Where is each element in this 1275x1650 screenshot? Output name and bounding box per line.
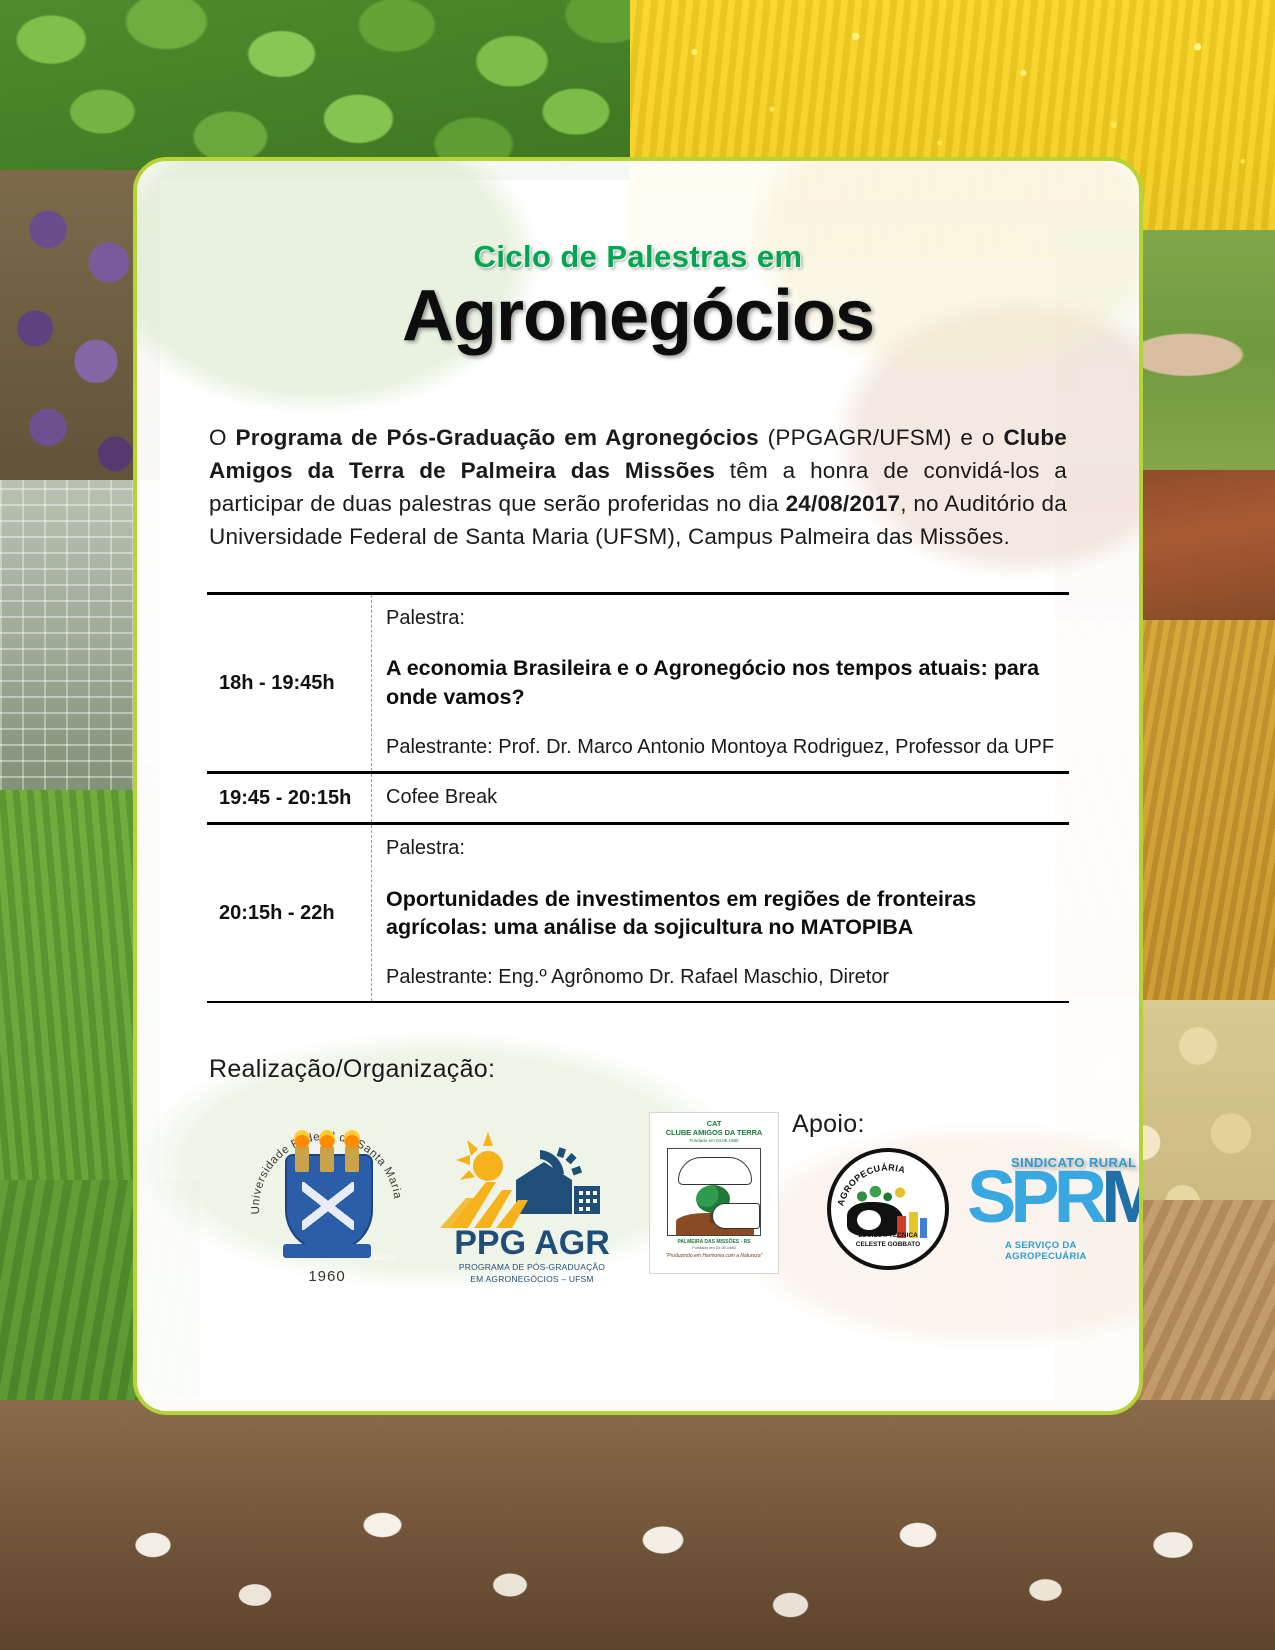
intro-part-a: O — [209, 425, 236, 450]
ufsm-torch-icon — [320, 1146, 334, 1172]
ufsm-logo: Universidade Federal de Santa Maria REDI… — [247, 1120, 407, 1280]
sprm-letter-p: P — [1010, 1155, 1053, 1238]
content-card: Ciclo de Palestras em Agronegócios O Pro… — [133, 157, 1143, 1415]
agropecuaria-sub-line1: ESC.EST. TÉCNICA — [827, 1232, 949, 1241]
row-speaker: Palestrante: Eng.º Agrônomo Dr. Rafael M… — [386, 964, 1059, 991]
row-talk-title: A economia Brasileira e o Agronegócio no… — [386, 654, 1059, 712]
intro-program-name: Programa de Pós-Graduação em Agronegócio… — [236, 425, 759, 450]
row-time: 20:15h - 22h — [207, 823, 372, 1002]
sprm-letter-m: M — [1101, 1155, 1143, 1238]
apoio-label: Apoio: — [792, 1110, 865, 1139]
agropecuaria-logo: AGROPECUÁRIA ESC.EST. TÉCNICA CELESTE GO… — [827, 1148, 949, 1270]
intro-event-date: 24/08/2017 — [786, 491, 901, 516]
page-title: Agronegócios — [137, 279, 1139, 355]
field-rows-icon — [440, 1176, 530, 1228]
ufsm-flame-icon — [344, 1130, 360, 1148]
agropecuaria-sub-line2: CELESTE GOBBATO — [827, 1241, 949, 1250]
table-row: 19:45 - 20:15h Cofee Break — [207, 772, 1069, 823]
cat-line6: "Produzindo em Harmonia com a Natureza" — [650, 1253, 778, 1260]
ppgagr-sub-line1: PROGRAMA DE PÓS-GRADUAÇÃO — [432, 1262, 632, 1273]
poster-kicker: Ciclo de Palestras em — [137, 239, 1139, 275]
table-row: 20:15h - 22h Palestra: Oportunidades de … — [207, 823, 1069, 1002]
photo-poultry-barn — [0, 1400, 1275, 1650]
sprm-footer-text: A SERVIÇO DA AGROPECUÁRIA — [1005, 1240, 1143, 1262]
sprm-letter-r: R — [1054, 1155, 1101, 1238]
schedule-table: 18h - 19:45h Palestra: A economia Brasil… — [207, 592, 1069, 1003]
realizacao-label: Realização/Organização: — [209, 1055, 1139, 1084]
ppgagr-sub-line2: EM AGRONEGÓCIOS – UFSM — [432, 1274, 632, 1285]
row-speaker: Palestrante: Prof. Dr. Marco Antonio Mon… — [386, 734, 1059, 761]
intro-paragraph: O Programa de Pós-Graduação em Agronegóc… — [209, 421, 1067, 554]
row-content: Palestra: Oportunidades de investimentos… — [372, 823, 1070, 1002]
row-content: Palestra: A economia Brasileira e o Agro… — [372, 593, 1070, 772]
ppgagr-logo: PPG AGR PROGRAMA DE PÓS-GRADUAÇÃO EM AGR… — [432, 1124, 632, 1284]
ufsm-flame-icon — [294, 1130, 310, 1148]
sprm-monogram: SPRM — [967, 1160, 1143, 1234]
intro-part-c: (PPGAGR/UFSM) e o — [759, 425, 1004, 450]
hand-icon — [712, 1203, 760, 1229]
ufsm-year: 1960 — [247, 1268, 407, 1285]
cat-line5: Fundado em 04.05.1980 — [650, 1245, 778, 1250]
photo-soy-leaves — [0, 0, 640, 180]
row-content: Cofee Break — [372, 772, 1070, 823]
cat-line3: Fundado em 04.05.1980 — [650, 1138, 778, 1143]
row-label-palestra: Palestra: — [386, 605, 1059, 633]
cat-illustration-icon — [667, 1148, 761, 1236]
cat-line1: CAT — [650, 1119, 778, 1128]
row-time: 18h - 19:45h — [207, 593, 372, 772]
row-label-palestra: Palestra: — [386, 835, 1059, 863]
ufsm-torch-icon — [345, 1146, 359, 1172]
hand-icon — [678, 1157, 752, 1185]
cat-logo: CAT CLUBE AMIGOS DA TERRA Fundado em 04.… — [649, 1112, 779, 1274]
cat-line2: CLUBE AMIGOS DA TERRA — [650, 1128, 778, 1137]
logo-strip: Apoio: Universidade Federal de Santa Mar… — [137, 1090, 1139, 1280]
ufsm-tools-icon — [302, 1182, 354, 1230]
ppgagr-subtitle: PROGRAMA DE PÓS-GRADUAÇÃO EM AGRONEGÓCIO… — [432, 1262, 632, 1285]
ufsm-flame-icon — [319, 1130, 335, 1148]
sprm-letter-s: S — [967, 1155, 1010, 1238]
row-break-title: Cofee Break — [386, 784, 1059, 812]
row-time: 19:45 - 20:15h — [207, 772, 372, 823]
poster-canvas: Ciclo de Palestras em Agronegócios O Pro… — [0, 0, 1275, 1650]
table-row: 18h - 19:45h Palestra: A economia Brasil… — [207, 593, 1069, 772]
sindicato-rural-logo: SINDICATO RURAL SPRM A SERVIÇO DA AGROPE… — [967, 1148, 1143, 1268]
ppgagr-wordmark: PPG AGR — [432, 1224, 632, 1263]
row-talk-title: Oportunidades de investimentos em regiõe… — [386, 885, 1059, 943]
ufsm-torch-icon — [295, 1146, 309, 1172]
ufsm-banner-icon — [283, 1244, 371, 1258]
agropecuaria-subtitle: ESC.EST. TÉCNICA CELESTE GOBBATO — [827, 1232, 949, 1250]
